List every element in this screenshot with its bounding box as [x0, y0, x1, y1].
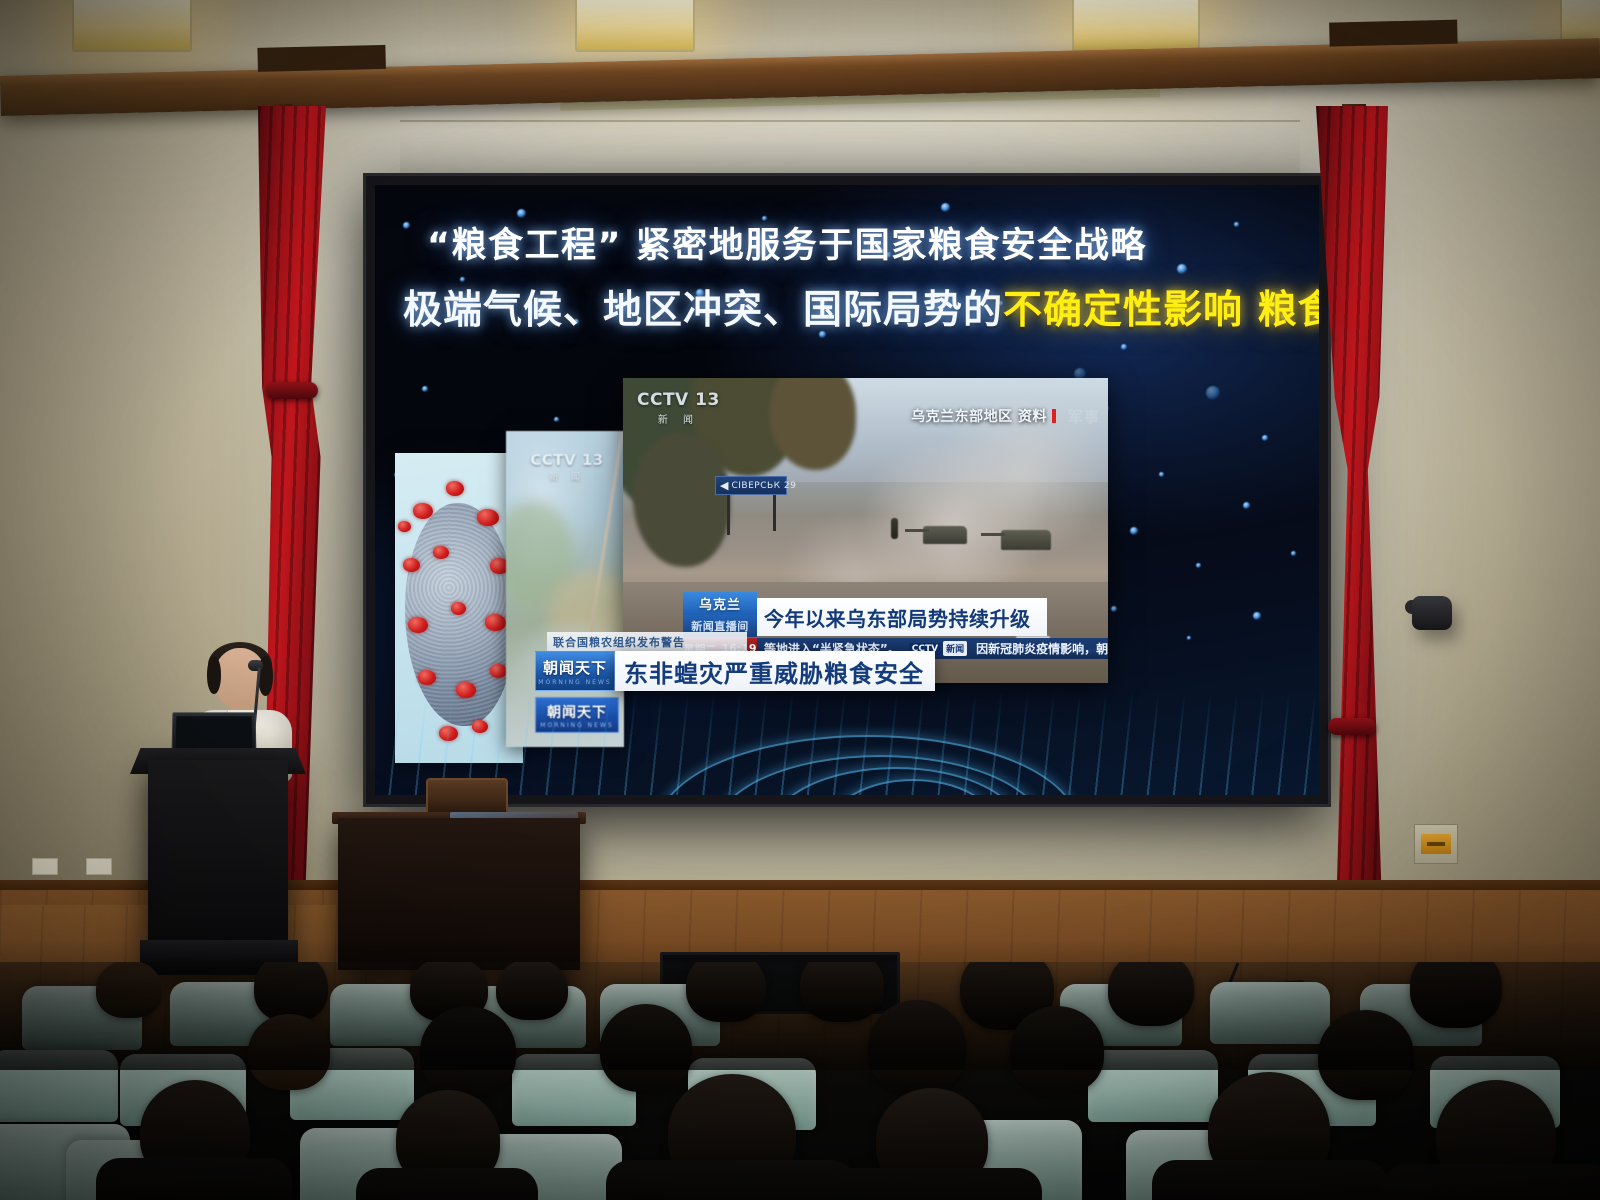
- presentation-slide: “粮食工程” 紧密地服务于国家粮食安全战略 极端气候、地区冲突、国际局势的不确定…: [375, 185, 1319, 795]
- slide-ripple-graphic: [375, 605, 1319, 795]
- tank-2: [1001, 530, 1051, 550]
- slide-title-line1: “粮食工程” 紧密地服务于国家粮食安全战略: [427, 217, 1287, 268]
- cctv13-logo-main: CCTV 13 新 闻: [637, 390, 720, 426]
- slide-title-line2-white: 极端气候、地区冲突、国际局势的: [403, 288, 1003, 333]
- projection-screen[interactable]: “粮食工程” 紧密地服务于国家粮食安全战略 极端气候、地区冲突、国际局势的不确定…: [366, 176, 1328, 804]
- microphone-icon: [248, 660, 263, 671]
- wall-fire-alarm-plate[interactable]: [1414, 824, 1458, 864]
- curtain-tieback-left: [266, 382, 318, 399]
- podium-laptop[interactable]: [172, 712, 257, 752]
- slide-title-line2: 极端气候、地区冲突、国际局势的不确定性影响 粮食安全: [403, 279, 1319, 335]
- video-location-caption: 乌克兰东部地区 资料: [911, 406, 1056, 426]
- road-sign: ◀ СІВЕРСЬК 29: [715, 476, 787, 495]
- wall-speaker-icon: [1412, 596, 1452, 630]
- slide-title-line2-yellow: 不确定性影响 粮食安全: [1003, 288, 1319, 333]
- cctv13-logo-secondary: CCTV 13 新 闻: [530, 451, 604, 483]
- video-watermark: 军事: [1068, 406, 1100, 427]
- curtain-tieback-right: [1328, 718, 1376, 735]
- arrow-left-icon: ◀: [720, 480, 728, 491]
- figure-silhouette: [891, 518, 898, 539]
- wall-outlet-2[interactable]: [86, 858, 112, 875]
- tank-1: [923, 526, 967, 544]
- wall-outlet-1[interactable]: [32, 858, 58, 875]
- floor-shadow: [0, 940, 1600, 1070]
- ceiling-light-2: [575, 0, 695, 52]
- lecture-hall-scene: “粮食工程” 紧密地服务于国家粮食安全战略 极端气候、地区冲突、国际局势的不确定…: [0, 0, 1600, 1200]
- ceiling-light-3: [1072, 0, 1200, 52]
- road-sign-text: СІВЕРСЬК 29: [731, 481, 796, 491]
